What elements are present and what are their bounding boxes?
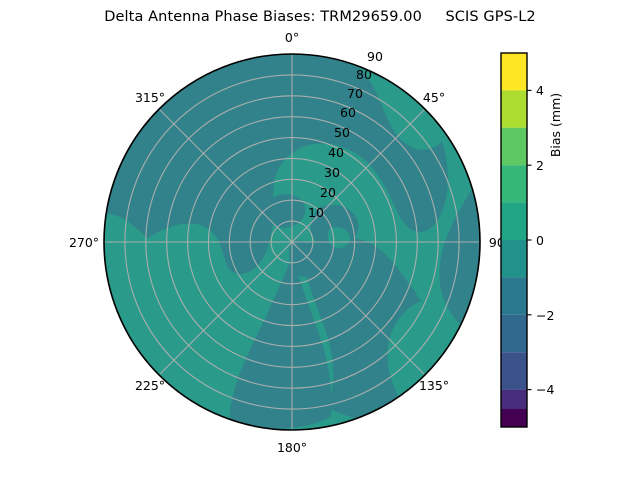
colorbar[interactable]: 4 2 0 −2 −4 bbox=[501, 53, 554, 427]
angular-tick-180: 180° bbox=[277, 440, 307, 455]
polar-plot-svg: 0° 45° 90° 135° 180° 225° 270° 315° 10 2… bbox=[0, 0, 640, 480]
angular-tick-270: 270° bbox=[69, 235, 99, 250]
colorbar-swatches bbox=[501, 53, 527, 427]
radial-tick-90: 90 bbox=[367, 49, 383, 64]
radial-tick-50: 50 bbox=[334, 125, 350, 140]
colorbar-tick-0: 0 bbox=[536, 233, 544, 248]
colorbar-tick-4: 4 bbox=[536, 83, 544, 98]
angular-tick-315: 315° bbox=[135, 90, 165, 105]
angular-tick-225: 225° bbox=[135, 378, 165, 393]
colorbar-tick-neg4: −4 bbox=[536, 382, 554, 397]
angular-tick-45: 45° bbox=[423, 90, 445, 105]
radial-tick-70: 70 bbox=[347, 86, 363, 101]
radial-tick-40: 40 bbox=[328, 145, 344, 160]
colorbar-tick-neg2: −2 bbox=[536, 308, 554, 323]
colorbar-tick-2: 2 bbox=[536, 158, 544, 173]
radial-tick-80: 80 bbox=[356, 67, 372, 82]
figure-canvas: Delta Antenna Phase Biases: TRM29659.00 … bbox=[0, 0, 640, 480]
polar-grid bbox=[104, 54, 480, 430]
radial-tick-60: 60 bbox=[340, 105, 356, 120]
angular-tick-135: 135° bbox=[419, 378, 449, 393]
radial-tick-30: 30 bbox=[324, 165, 340, 180]
radial-tick-10: 10 bbox=[308, 205, 324, 220]
angular-tick-0: 0° bbox=[285, 30, 299, 45]
radial-tick-20: 20 bbox=[320, 185, 336, 200]
colorbar-axis-label: Bias (mm) bbox=[548, 65, 563, 185]
